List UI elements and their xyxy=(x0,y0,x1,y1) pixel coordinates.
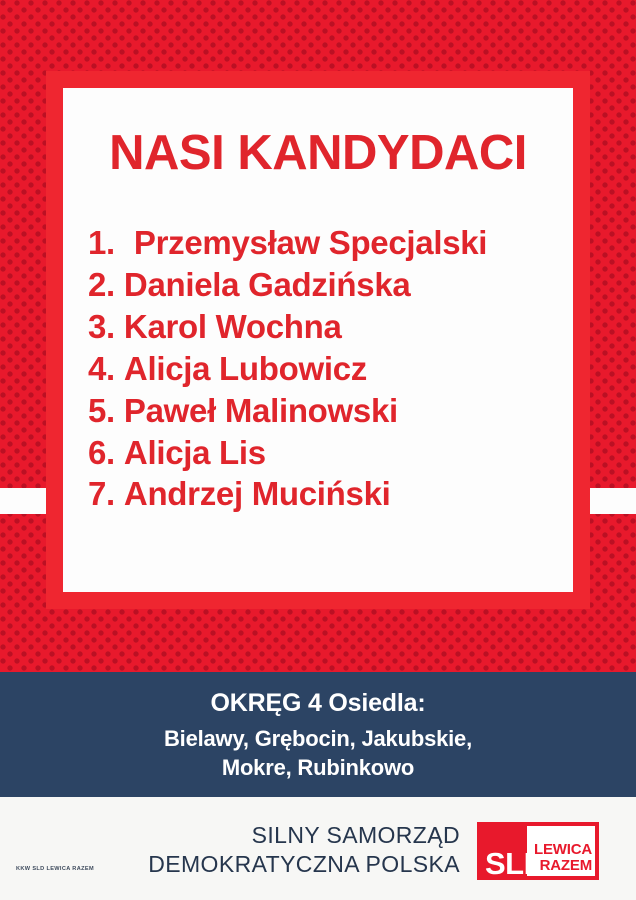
district-line-1: Bielawy, Grębocin, Jakubskie, xyxy=(0,724,636,753)
list-item: 2. Daniela Gadzińska xyxy=(88,264,558,306)
lewica-razem-line-2: RAZEM xyxy=(540,858,592,874)
page-title: NASI KANDYDACI xyxy=(63,128,573,179)
campaign-poster: NASI KANDYDACI 1. Przemysław Specjalski … xyxy=(0,0,636,900)
district-line-2: Mokre, Rubinkowo xyxy=(0,753,636,782)
candidate-name: Paweł Malinowski xyxy=(124,390,398,432)
candidate-name: Alicja Lis xyxy=(124,432,266,474)
district-neighbourhoods: Bielawy, Grębocin, Jakubskie, Mokre, Rub… xyxy=(0,724,636,782)
candidate-number: 4. xyxy=(88,348,115,390)
candidate-name: Daniela Gadzińska xyxy=(124,264,411,306)
candidate-name: Przemysław Specjalski xyxy=(134,222,487,264)
candidate-list: 1. Przemysław Specjalski 2. Daniela Gadz… xyxy=(88,222,558,515)
lewica-razem-block: LEWICA RAZEM xyxy=(527,826,595,876)
list-item: 3. Karol Wochna xyxy=(88,306,558,348)
lewica-razem-line-1: LEWICA xyxy=(534,842,592,858)
candidate-name: Alicja Lubowicz xyxy=(124,348,367,390)
district-title: OKRĘG 4 Osiedla: xyxy=(0,689,636,718)
campaign-slogan: SILNY SAMORZĄD DEMOKRATYCZNA POLSKA xyxy=(148,821,460,879)
slogan-line-2: DEMOKRATYCZNA POLSKA xyxy=(148,850,460,879)
list-item: 6. Alicja Lis xyxy=(88,432,558,474)
list-item: 5. Paweł Malinowski xyxy=(88,390,558,432)
candidate-number: 1. xyxy=(88,222,115,264)
candidate-name: Karol Wochna xyxy=(124,306,342,348)
list-item: 7. Andrzej Muciński xyxy=(88,473,558,515)
candidate-number: 7. xyxy=(88,473,115,515)
left-white-tab xyxy=(0,488,48,514)
sld-logo: SLD LEWICA RAZEM xyxy=(477,822,599,880)
slogan-line-1: SILNY SAMORZĄD xyxy=(148,821,460,850)
candidate-name: Andrzej Muciński xyxy=(124,473,391,515)
candidate-number: 6. xyxy=(88,432,115,474)
candidate-number: 3. xyxy=(88,306,115,348)
right-white-tab xyxy=(588,488,636,514)
district-band: OKRĘG 4 Osiedla: Bielawy, Grębocin, Jaku… xyxy=(0,672,636,797)
list-item: 4. Alicja Lubowicz xyxy=(88,348,558,390)
candidate-number: 5. xyxy=(88,390,115,432)
candidate-number: 2. xyxy=(88,264,115,306)
committee-disclaimer: KKW SLD LEWICA RAZEM xyxy=(16,866,94,872)
list-item: 1. Przemysław Specjalski xyxy=(88,222,558,264)
